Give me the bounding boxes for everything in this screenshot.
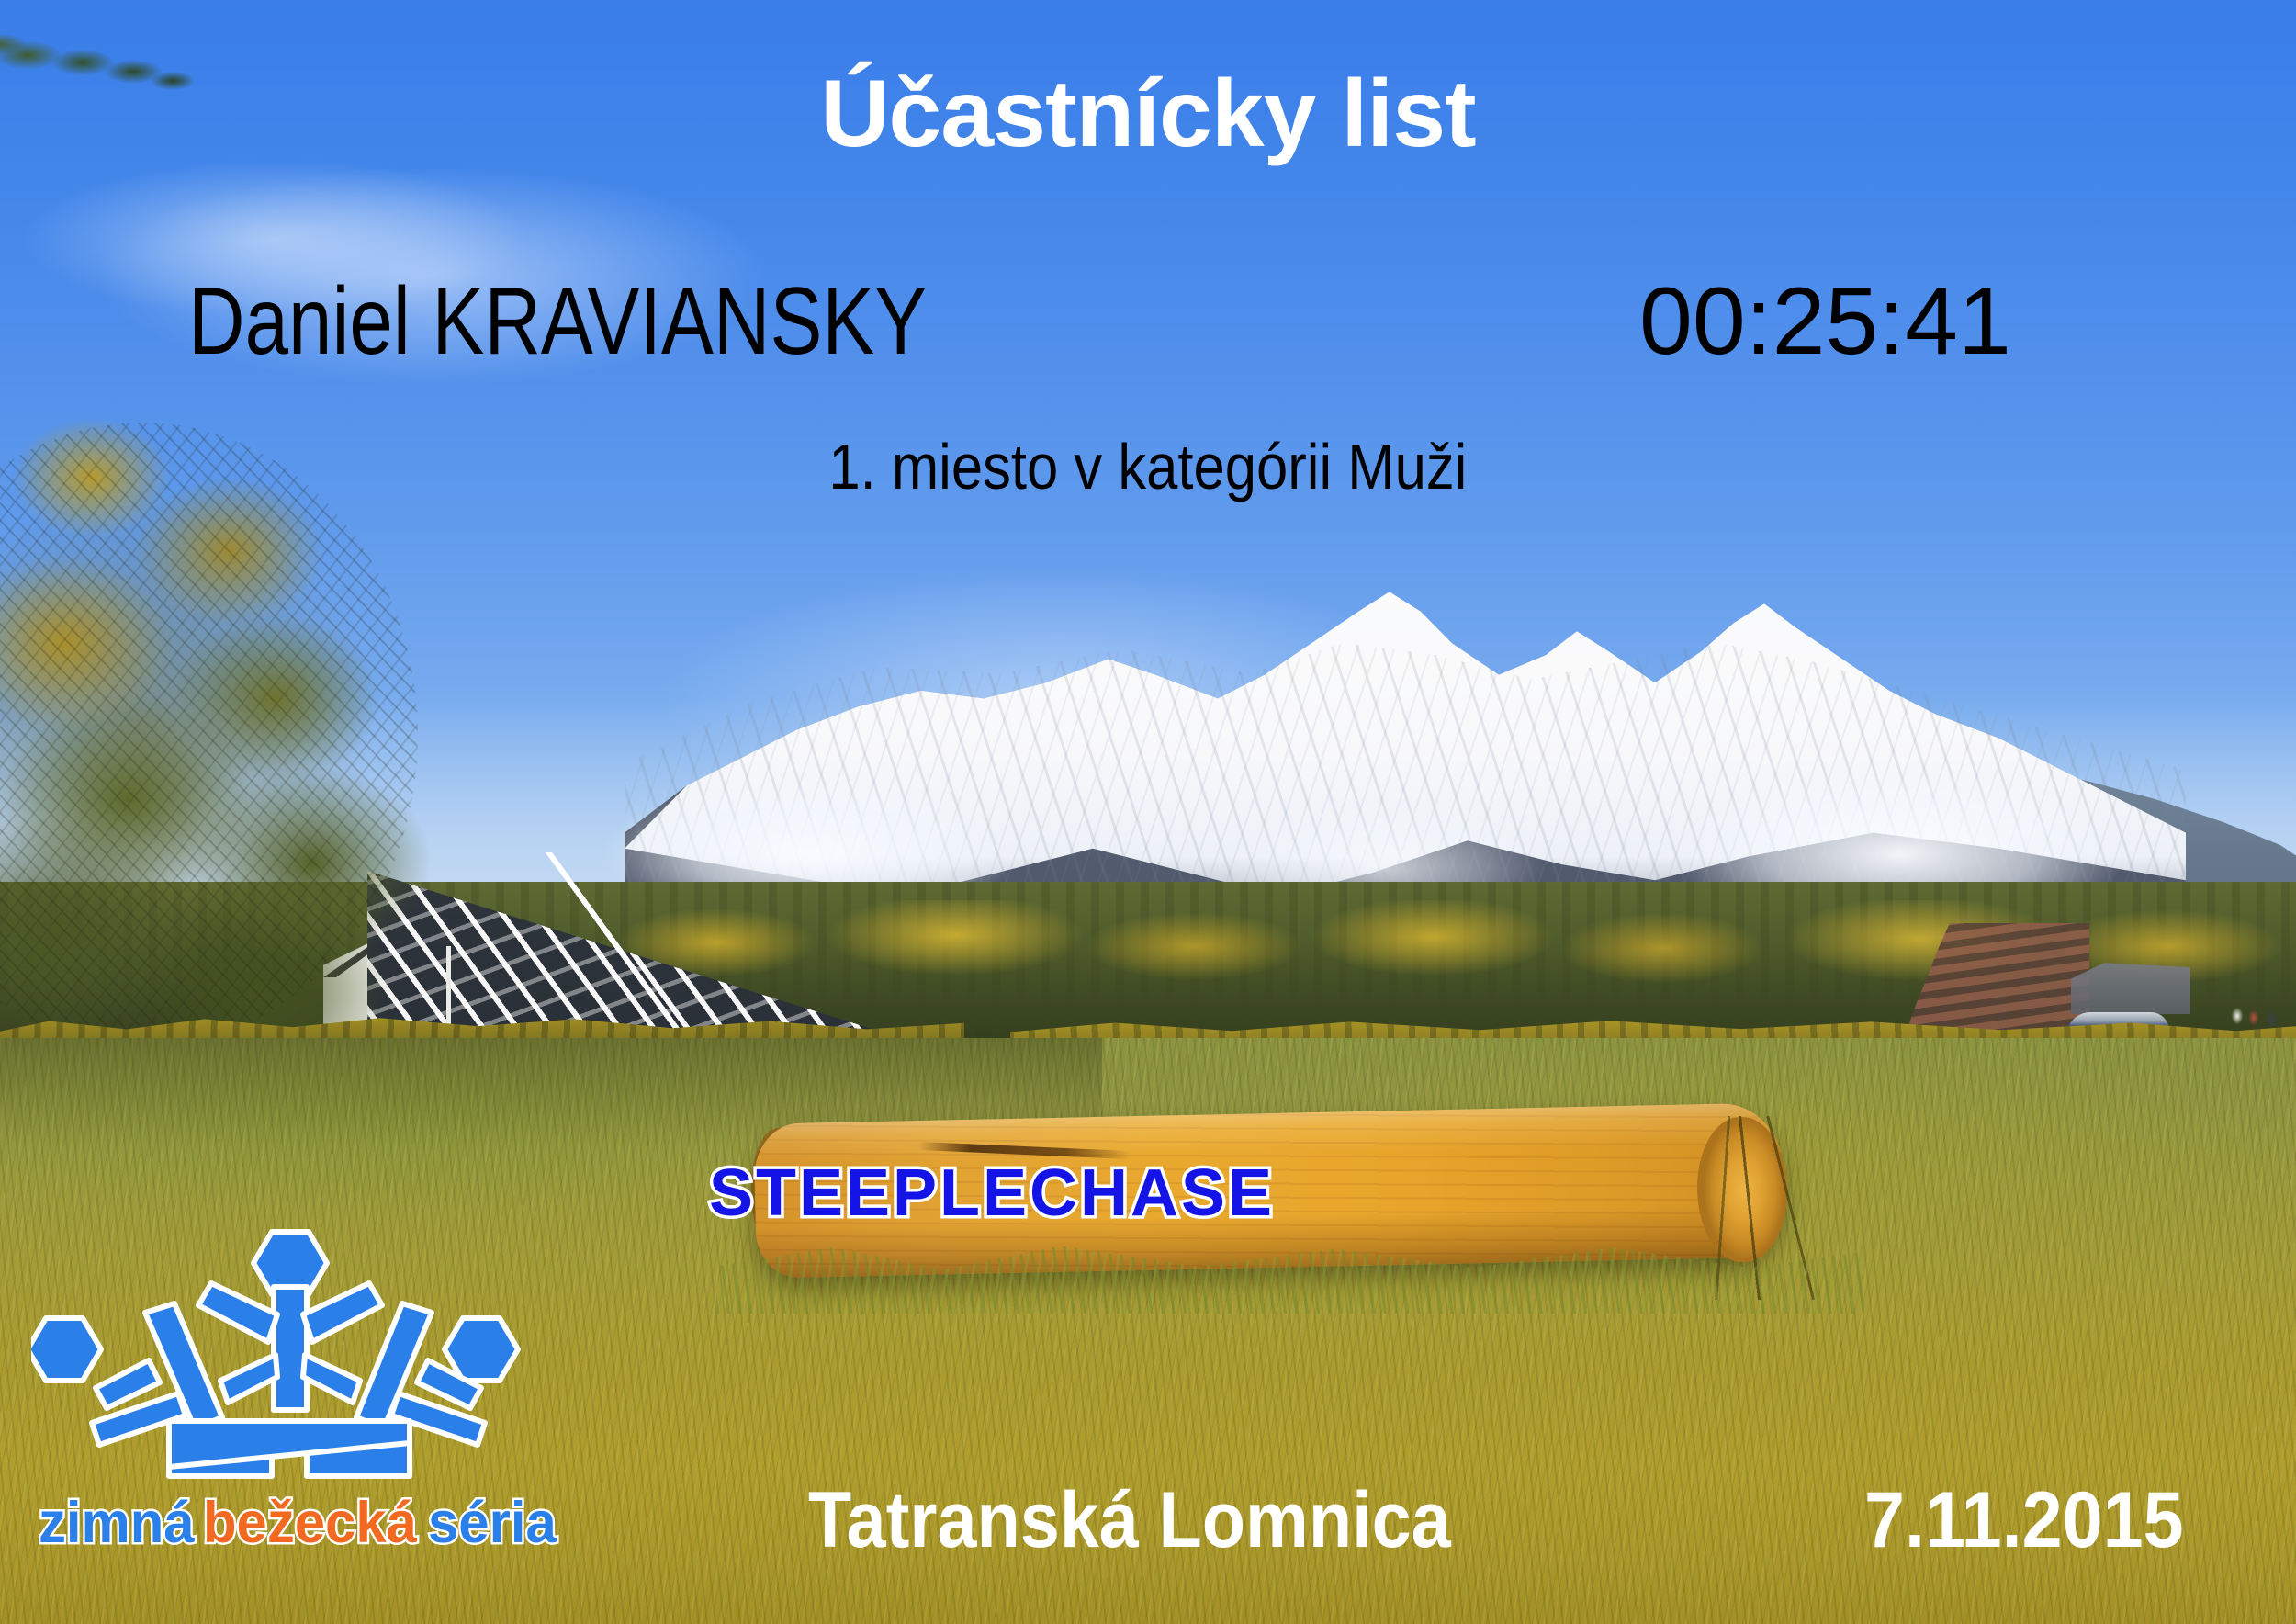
logo-wordmark: zimnábežeckáséria bbox=[39, 1494, 539, 1552]
event-location: Tatranská Lomnica bbox=[808, 1481, 1522, 1560]
logo-word-zimna: zimná bbox=[39, 1494, 195, 1552]
steeplechase-label: STEEPLECHASE bbox=[0, 1156, 2140, 1231]
placement-line: 1. miesto v kategórii Muži bbox=[0, 432, 2296, 502]
placement-text: 1. miesto v kategórii Muži bbox=[829, 432, 1468, 502]
logo-word-bezecka: bežecká bbox=[203, 1494, 417, 1552]
event-date: 7.11.2015 bbox=[1864, 1481, 2212, 1560]
snowflake-icon bbox=[31, 1226, 546, 1502]
event-date-text: 7.11.2015 bbox=[1864, 1481, 2184, 1560]
certificate-image: Účastnícky list Daniel KRAVIANSKY 00:25:… bbox=[0, 0, 2296, 1624]
participant-name: Daniel KRAVIANSKY bbox=[188, 272, 927, 372]
page-title: Účastnícky list bbox=[0, 62, 2296, 165]
finish-time: 00:25:41 bbox=[1639, 272, 2011, 372]
logo-word-seria: séria bbox=[428, 1494, 557, 1552]
series-logo: zimnábežeckáséria bbox=[31, 1226, 546, 1612]
event-location-text: Tatranská Lomnica bbox=[808, 1481, 1451, 1560]
